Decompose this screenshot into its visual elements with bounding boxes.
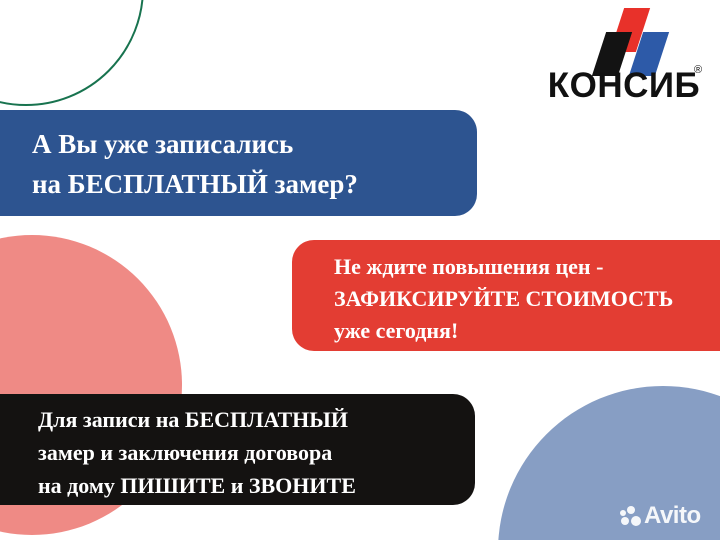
poster-canvas: КОНСИБ ® А Вы уже записались на БЕСПЛАТН… xyxy=(0,0,720,540)
avito-wordmark: Avito xyxy=(644,504,701,528)
brand-logo: КОНСИБ ® xyxy=(536,8,712,104)
headline-line-1: А Вы уже записались xyxy=(32,124,477,164)
headline-line-2: на БЕСПЛАТНЫЙ замер? xyxy=(32,164,477,204)
avito-watermark: Avito xyxy=(620,503,701,529)
green-ring-decoration xyxy=(0,0,144,106)
konsib-logo-mark-icon xyxy=(588,8,672,70)
cta-line-3: на дому ПИШИТЕ и ЗВОНИТЕ xyxy=(38,469,475,502)
headline-panel-blue: А Вы уже записались на БЕСПЛАТНЫЙ замер? xyxy=(0,110,477,216)
avito-dots-icon xyxy=(620,506,642,526)
brand-wordmark: КОНСИБ xyxy=(536,66,712,106)
cta-line-1: Для записи на БЕСПЛАТНЫЙ xyxy=(38,403,475,436)
cta-panel-black: Для записи на БЕСПЛАТНЫЙ замер и заключе… xyxy=(0,394,475,505)
urgency-line-3: уже сегодня! xyxy=(334,315,720,347)
urgency-panel-red: Не ждите повышения цен - ЗАФИКСИРУЙТЕ СТ… xyxy=(292,240,720,351)
cta-line-2: замер и заключения договора xyxy=(38,436,475,469)
urgency-line-1: Не ждите повышения цен - xyxy=(334,251,720,283)
urgency-line-2: ЗАФИКСИРУЙТЕ СТОИМОСТЬ xyxy=(334,283,720,315)
registered-trademark-icon: ® xyxy=(694,64,702,76)
